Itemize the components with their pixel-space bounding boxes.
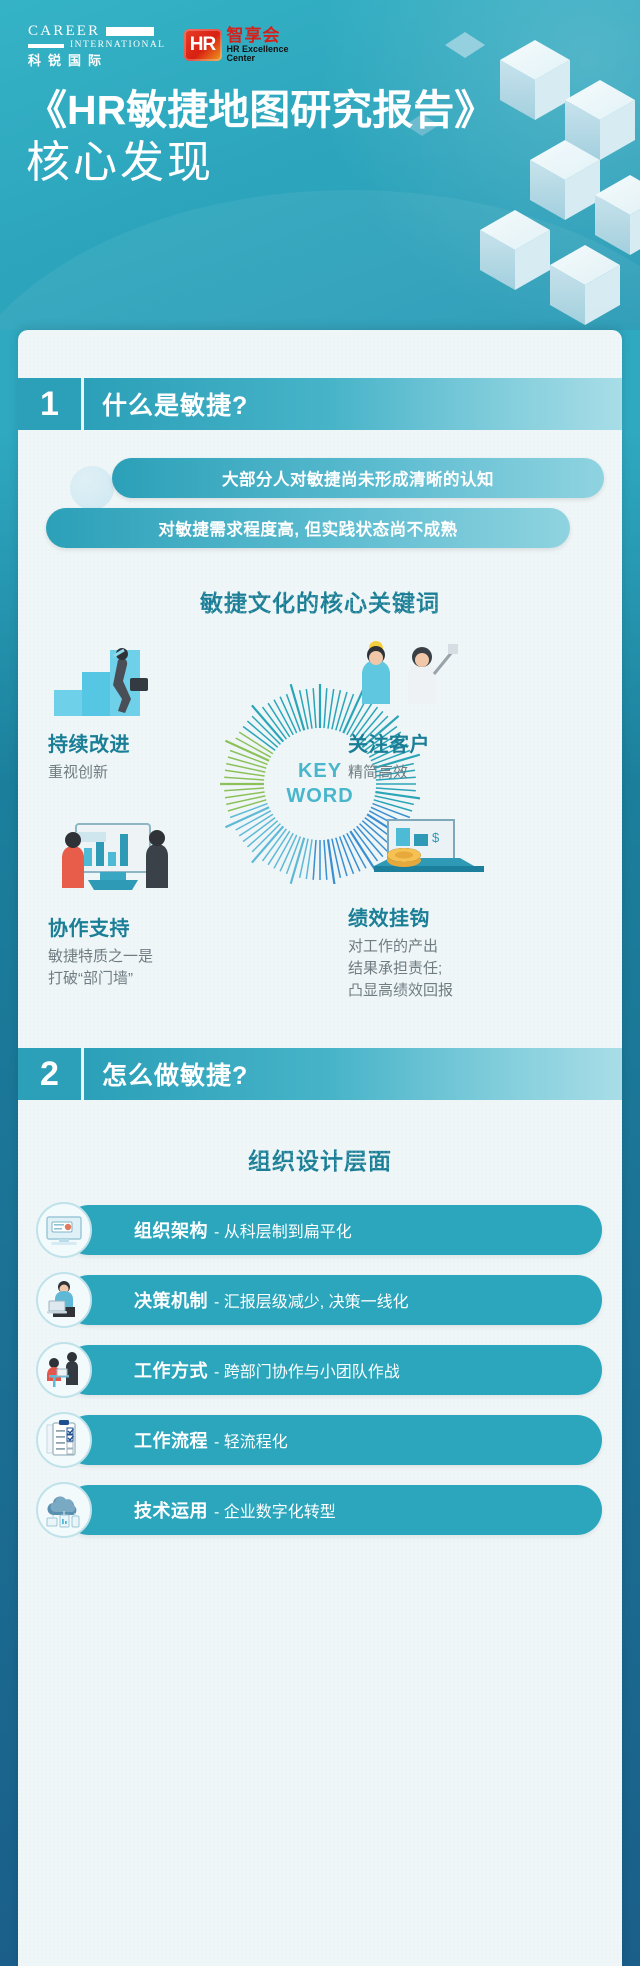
page-title-line1: 《HR敏捷地图研究报告》 [26, 86, 495, 134]
career-logo-cn: 科锐国际 [28, 54, 166, 67]
career-logo-en-bottom: INTERNATIONAL [70, 41, 166, 51]
quadrant-title-2: 关注客户 [348, 728, 578, 757]
page-title: 《HR敏捷地图研究报告》 核心发现 [26, 86, 495, 190]
hr-logo-zh: 智享会 [227, 27, 289, 45]
list-item-desc: - 企业数字化转型 [214, 1498, 336, 1522]
list-item[interactable]: 工作流程 - 轻流程化 [36, 1412, 602, 1468]
section-2-group-heading: 组织设计层面 [18, 1142, 622, 1176]
list-item-bar[interactable]: 工作方式 - 跨部门协作与小团队作战 [64, 1345, 602, 1395]
circle-decoration-icon [70, 466, 114, 510]
stairs-climb-icon [48, 634, 278, 720]
keyword-quadrant-performance: $ 绩效挂钩 对工作的产出 结果承担责任; 凸显高绩效回报 [348, 808, 578, 1001]
person-laptop-icon [36, 1272, 92, 1328]
hr-badge-icon: HR [184, 29, 222, 61]
quadrant-desc-4: 对工作的产出 结果承担责任; 凸显高绩效回报 [348, 936, 578, 1001]
list-item-bar[interactable]: 工作流程 - 轻流程化 [64, 1415, 602, 1465]
section-2-header: 2 怎么做敏捷? [18, 1048, 622, 1100]
pill-finding-2: 对敏捷需求程度高, 但实践状态尚不成熟 [46, 508, 570, 548]
svg-text:$: $ [432, 830, 440, 845]
keyword-heading: 敏捷文化的核心关键词 [18, 584, 622, 618]
list-item[interactable]: 工作方式 - 跨部门协作与小团队作战 [36, 1342, 602, 1398]
section-1-header: 1 什么是敏捷? [18, 378, 622, 430]
pill-finding-1: 大部分人对敏捷尚未形成清晰的认知 [112, 458, 604, 498]
career-logo-en-top: CAREER [28, 24, 100, 39]
list-item-bar[interactable]: 决策机制 - 汇报层级减少, 决策一线化 [64, 1275, 602, 1325]
quadrant-desc-3: 敏捷特质之一是 打破“部门墙” [48, 946, 278, 990]
keyword-diagram: KEY WORD 持续改进 [18, 628, 622, 1048]
career-international-logo: CAREER INTERNATIONAL 科锐国际 [28, 24, 166, 67]
two-people-desk-icon [36, 1342, 92, 1398]
list-item-bar[interactable]: 组织架构 - 从科层制到扁平化 [64, 1205, 602, 1255]
list-item-title: 组织架构 [134, 1217, 208, 1243]
keyword-quadrant-collab: 协作支持 敏捷特质之一是 打破“部门墙” [48, 818, 278, 990]
content-card: 1 什么是敏捷? 大部分人对敏捷尚未形成清晰的认知 对敏捷需求程度高, 但实践状… [18, 330, 622, 1966]
quadrant-desc-1: 重视创新 [48, 762, 278, 784]
monitor-profile-icon [36, 1202, 92, 1258]
keyword-quadrant-improve: 持续改进 重视创新 [48, 634, 278, 784]
list-item-desc: - 汇报层级减少, 决策一线化 [214, 1288, 409, 1312]
list-item-title: 工作方式 [134, 1357, 208, 1383]
infographic-page: CAREER INTERNATIONAL 科锐国际 HR 智享会 HR Exce… [0, 0, 640, 1966]
hr-excellence-center-logo: HR 智享会 HR Excellence Center [184, 27, 289, 64]
list-item-desc: - 跨部门协作与小团队作战 [214, 1358, 400, 1382]
list-item[interactable]: 决策机制 - 汇报层级减少, 决策一线化 [36, 1272, 602, 1328]
quadrant-title-1: 持续改进 [48, 728, 278, 757]
hero-header: CAREER INTERNATIONAL 科锐国际 HR 智享会 HR Exce… [0, 0, 640, 330]
list-item-desc: - 从科层制到扁平化 [214, 1218, 352, 1242]
quadrant-desc-2: 精简高效 [348, 762, 578, 784]
section-2-number: 2 [18, 1048, 84, 1100]
list-item-title: 技术运用 [134, 1497, 208, 1523]
quadrant-title-4: 绩效挂钩 [348, 902, 578, 931]
list-item-bar[interactable]: 技术运用 - 企业数字化转型 [64, 1485, 602, 1535]
list-item-title: 工作流程 [134, 1427, 208, 1453]
team-presentation-icon [48, 818, 278, 904]
section-2-title: 怎么做敏捷? [84, 1048, 622, 1100]
keyword-quadrant-customer: 关注客户 精简高效 [348, 634, 578, 784]
career-logo-bar [106, 27, 154, 36]
list-item[interactable]: 组织架构 - 从科层制到扁平化 [36, 1202, 602, 1258]
cloud-devices-icon [36, 1482, 92, 1538]
checklist-icon [36, 1412, 92, 1468]
list-item-desc: - 轻流程化 [214, 1428, 288, 1452]
laptop-coins-icon: $ [348, 808, 578, 894]
section-1-title: 什么是敏捷? [84, 378, 622, 430]
brand-logos: CAREER INTERNATIONAL 科锐国际 HR 智享会 HR Exce… [28, 24, 289, 67]
section-1-number: 1 [18, 378, 84, 430]
section-1-pills: 大部分人对敏捷尚未形成清晰的认知 对敏捷需求程度高, 但实践状态尚不成熟 [18, 430, 622, 554]
two-people-idea-icon [348, 634, 578, 720]
page-title-line2: 核心发现 [26, 136, 495, 190]
list-item-title: 决策机制 [134, 1287, 208, 1313]
quadrant-title-3: 协作支持 [48, 912, 278, 941]
career-logo-bar2 [28, 44, 64, 48]
hr-logo-en2: Center [227, 54, 289, 63]
section-2-list: 组织架构 - 从科层制到扁平化 [18, 1202, 622, 1592]
list-item[interactable]: 技术运用 - 企业数字化转型 [36, 1482, 602, 1538]
